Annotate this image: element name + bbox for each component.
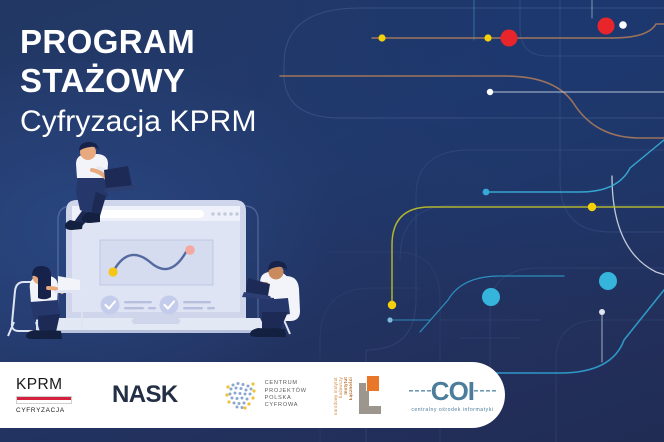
il-vertical-small: narodowy instytut badawczy: [333, 377, 343, 415]
coi-right-dashes-icon: [474, 386, 496, 395]
title-line-1: PROGRAM: [20, 22, 257, 61]
cppc-line-3: POLSKA: [265, 395, 307, 402]
coi-wordmark: COI: [431, 378, 474, 404]
poster-root: PROGRAM STAŻOWY Cyfryzacja KPRM: [0, 0, 664, 442]
coi-left-dashes-icon: [409, 386, 431, 395]
kprm-wordmark: KPRM: [16, 376, 62, 393]
page-title: PROGRAM STAŻOWY Cyfryzacja KPRM: [20, 22, 257, 142]
polish-flag-icon: [16, 396, 72, 404]
title-line-2: STAŻOWY: [20, 61, 257, 100]
centrum-projektow-polska-cyfrowa-logo: CENTRUM PROJEKTÓW POLSKA CYFROWA: [224, 378, 307, 412]
nask-logo: NASK: [112, 381, 178, 409]
nask-wordmark: NASK: [112, 381, 178, 409]
kprm-subtitle: CYFRYZACJA: [16, 407, 65, 415]
coi-logo: COI centralny ośrodek informatyki: [409, 378, 496, 413]
cppc-line-2: PROJEKTÓW: [265, 388, 307, 395]
cppc-wordmark: CENTRUM PROJEKTÓW POLSKA CYFROWA: [265, 380, 307, 410]
logo-bar: KPRM CYFRYZACJA NASK: [0, 362, 505, 428]
il-vertical-text: narodowy instytut badawczy Instytut Łącz…: [333, 377, 353, 417]
title-line-3: Cyfryzacja KPRM: [20, 102, 257, 142]
screen-chart-end-dot: [185, 245, 195, 255]
poland-map-dots-icon: [224, 378, 258, 412]
instytut-lacznosci-logo: narodowy instytut badawczy Instytut Łącz…: [333, 373, 383, 417]
cppc-line-4: CYFROWA: [265, 402, 307, 409]
kprm-cyfryzacja-logo: KPRM CYFRYZACJA: [16, 376, 72, 415]
il-vertical-bold: Instytut Łączności: [343, 377, 353, 400]
il-mark-icon: [353, 373, 383, 417]
cppc-line-1: CENTRUM: [265, 380, 307, 387]
coi-subtitle: centralny ośrodek informatyki: [411, 407, 493, 413]
screen-chart-start-dot: [108, 267, 117, 276]
